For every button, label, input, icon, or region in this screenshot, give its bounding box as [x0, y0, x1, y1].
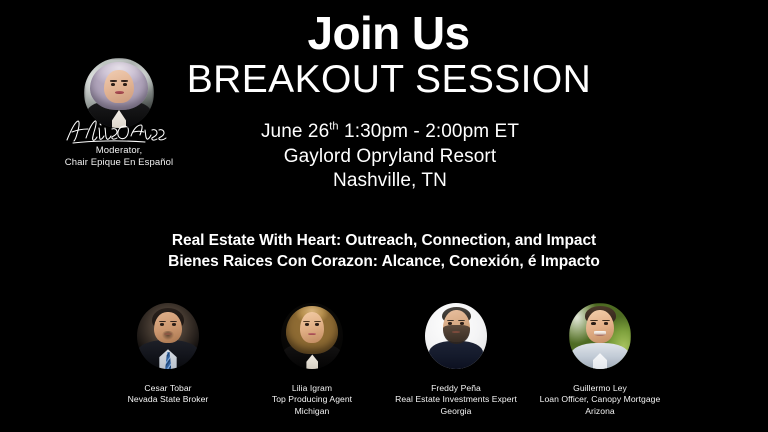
event-date-ordinal: th — [329, 121, 338, 133]
speaker-card-guillermo-ley: Guillermo Ley Loan Officer, Canopy Mortg… — [536, 303, 664, 417]
portrait-eye-right — [460, 322, 464, 325]
portrait-eye-left — [448, 322, 452, 325]
event-date: June 26 — [261, 121, 329, 142]
portrait-eyebrow-right — [602, 320, 609, 322]
portrait-face — [300, 312, 324, 342]
portrait-mouth — [164, 333, 171, 335]
session-title-spanish: Bienes Raices Con Corazon: Alcance, Cone… — [0, 251, 768, 272]
portrait-eyebrow-left — [590, 320, 597, 322]
portrait-eye-left — [305, 323, 309, 326]
portrait-eye-right — [123, 83, 128, 86]
portrait-eyebrow-left — [110, 80, 117, 82]
speaker-portrait-freddy-pena — [425, 303, 487, 369]
portrait-tshirt — [429, 341, 484, 369]
portrait-eyebrow-right — [121, 80, 128, 82]
portrait-face — [586, 310, 614, 343]
event-city: Nashville, TN — [12, 169, 768, 194]
speaker-portrait-lilia-igram — [281, 303, 343, 369]
portrait-mouth — [594, 331, 605, 335]
page-title: Join Us — [0, 8, 768, 58]
speaker-portrait-cesar-tobar — [137, 303, 199, 369]
moderator-role: Moderator, Chair Epique En Español — [44, 145, 194, 170]
event-time-range: 1:30pm - 2:00pm ET — [339, 121, 519, 142]
moderator-block: Moderator, Chair Epique En Español — [44, 58, 194, 170]
session-title-english: Real Estate With Heart: Outreach, Connec… — [0, 230, 768, 251]
portrait-eye-left — [591, 322, 596, 325]
speaker-caption: Freddy Peña Real Estate Investments Expe… — [392, 383, 520, 417]
portrait-eye-right — [604, 322, 609, 325]
portrait-face — [104, 70, 133, 104]
portrait-eyebrow-left — [447, 320, 454, 322]
speakers-row: Cesar Tobar Nevada State Broker Lili — [104, 303, 664, 417]
moderator-signature — [44, 116, 194, 146]
speaker-card-cesar-tobar: Cesar Tobar Nevada State Broker — [104, 303, 232, 406]
speaker-caption: Guillermo Ley Loan Officer, Canopy Mortg… — [536, 383, 664, 417]
event-promo-poster: Join Us BREAKOUT SESSION June 26th 1:30p… — [0, 0, 768, 432]
portrait-eye-left — [111, 83, 116, 86]
portrait-mouth — [115, 91, 124, 94]
speaker-card-freddy-pena: Freddy Peña Real Estate Investments Expe… — [392, 303, 520, 417]
speaker-portrait-guillermo-ley — [569, 303, 631, 369]
speaker-caption: Cesar Tobar Nevada State Broker — [104, 383, 232, 406]
speaker-card-lilia-igram: Lilia Igram Top Producing Agent Michigan — [248, 303, 376, 417]
session-title-block: Real Estate With Heart: Outreach, Connec… — [0, 230, 768, 272]
speaker-caption: Lilia Igram Top Producing Agent Michigan — [248, 383, 376, 417]
